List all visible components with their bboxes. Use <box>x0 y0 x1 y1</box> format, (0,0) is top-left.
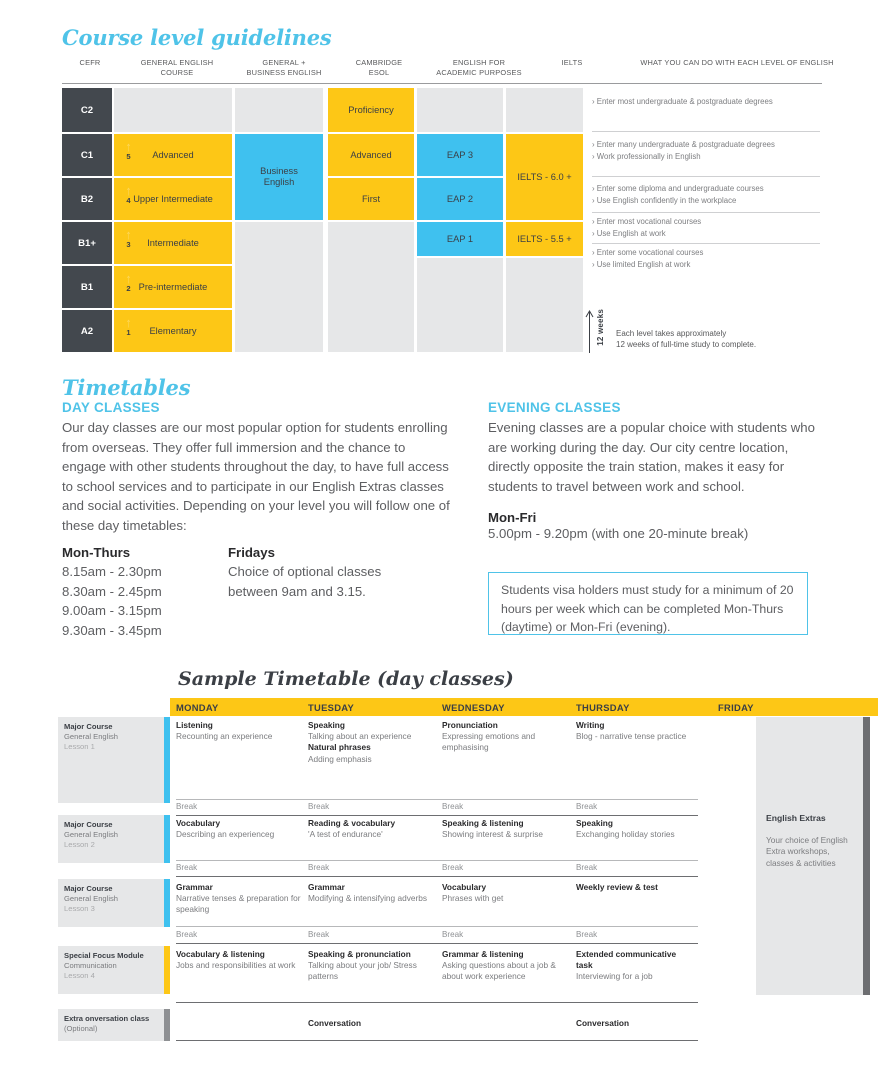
cell-mon-lesson2: Vocabulary Describing an experienceg <box>176 818 300 840</box>
business-english-empty-bottom <box>235 222 323 352</box>
course-label: Upper Intermediate <box>133 194 213 205</box>
row-accent-bar <box>164 815 170 863</box>
break-tue-3: Break <box>308 930 329 939</box>
business-english-block: Business English <box>235 134 323 220</box>
cell-wed-lesson3: Vocabulary Phrases with get <box>442 882 568 904</box>
cell-thu-lesson3: Weekly review & test <box>576 882 706 893</box>
timetables-title: Timetables <box>62 375 190 400</box>
break-thu-3: Break <box>576 930 597 939</box>
outcome-row-b1: › Enter some vocational courses › Use li… <box>592 247 822 270</box>
esol-first: First <box>328 178 414 220</box>
cefr-level-a2: A2 <box>62 310 112 352</box>
cell-wed-lesson1: Pronunciation Expressing emotions and em… <box>442 720 568 754</box>
cell-thu-lesson4: Extended communicative task Interviewing… <box>576 949 688 983</box>
outcome-divider <box>592 131 820 132</box>
cefr-level-c2: C2 <box>62 88 112 132</box>
cell-mon-lesson1: Listening Recounting an experience <box>176 720 300 742</box>
esol-advanced: Advanced <box>328 134 414 176</box>
course-table-header-row: CEFR GENERAL ENGLISH COURSE GENERAL + BU… <box>62 58 822 86</box>
general-english-empty-c2 <box>114 88 232 132</box>
arrow-up-icon: ↑ <box>125 141 132 152</box>
visa-note-box: Students visa holders must study for a m… <box>488 572 808 635</box>
evening-classes-body: Evening classes are a popular choice wit… <box>488 418 822 496</box>
cell-tue-lesson2: Reading & vocabulary 'A test of enduranc… <box>308 818 436 840</box>
english-extras-panel: English Extras Your choice of English Ex… <box>756 717 870 995</box>
day-header-monday: MONDAY <box>176 698 302 716</box>
weeks-note-text: Each level takes approximately 12 weeks … <box>616 328 756 350</box>
row-divider <box>176 926 698 927</box>
course-label: Intermediate <box>147 238 199 249</box>
english-extras-body: Your choice of English Extra workshops, … <box>766 835 858 869</box>
level-arrow-3: ↑ 3 <box>122 229 135 257</box>
eap-empty-top <box>417 88 503 132</box>
cell-tue-conversation: Conversation <box>308 1018 432 1029</box>
break-wed-2: Break <box>442 863 463 872</box>
break-tue-1: Break <box>308 802 329 811</box>
arrow-up-icon: ↑ <box>125 185 132 196</box>
weeks-note: 12 weeks Each level takes approximately … <box>585 305 830 355</box>
row-divider <box>176 943 698 944</box>
business-english-line2: English <box>264 177 295 188</box>
break-thu-1: Break <box>576 802 597 811</box>
row-divider <box>176 860 698 861</box>
cell-wed-lesson2: Speaking & listening Showing interest & … <box>442 818 568 840</box>
row-accent-bar <box>164 946 170 994</box>
sample-timetable-title: Sample Timetable (day classes) <box>178 668 514 690</box>
outcome-divider <box>592 243 820 244</box>
row-label-lesson-2: Major Course General English Lesson 2 <box>58 815 170 863</box>
outcome-row-b1plus: › Enter most vocational courses › Use En… <box>592 216 822 239</box>
mon-fri-times: 5.00pm - 9.20pm (with one 20-minute brea… <box>488 526 748 541</box>
level-arrow-1: ↑ 1 <box>122 317 135 345</box>
break-tue-2: Break <box>308 863 329 872</box>
course-label: Pre-intermediate <box>139 282 208 293</box>
page-title: Course level guidelines <box>62 25 332 50</box>
column-header-outcomes: WHAT YOU CAN DO WITH EACH LEVEL OF ENGLI… <box>592 58 880 68</box>
outcome-row-b2: › Enter some diploma and undergraduate c… <box>592 183 822 206</box>
break-mon-1: Break <box>176 802 197 811</box>
outcome-divider <box>592 176 820 177</box>
fridays-label: Fridays <box>228 545 275 560</box>
eap-2: EAP 2 <box>417 178 503 220</box>
row-label-lesson-1: Major Course General English Lesson 1 <box>58 717 170 803</box>
row-divider <box>176 815 698 816</box>
mon-thurs-times: 8.15am - 2.30pm 8.30am - 2.45pm 9.00am -… <box>62 562 162 640</box>
row-divider <box>176 1040 698 1041</box>
ielts-empty-bottom <box>506 258 583 352</box>
ielts-60: IELTS - 6.0 + <box>506 134 583 220</box>
row-label-extra-conversation: Extra onversation class (Optional) <box>58 1009 170 1041</box>
break-mon-2: Break <box>176 863 197 872</box>
cefr-level-b2: B2 <box>62 178 112 220</box>
day-header-wednesday: WEDNESDAY <box>442 698 568 716</box>
outcome-row-c2: › Enter most undergraduate & postgraduat… <box>592 96 822 108</box>
cell-thu-lesson1: Writing Blog - narrative tense practice <box>576 720 698 742</box>
day-header-friday: FRIDAY <box>718 698 844 716</box>
sample-timetable-day-header: MONDAY TUESDAY WEDNESDAY THURSDAY FRIDAY <box>170 698 878 716</box>
break-mon-3: Break <box>176 930 197 939</box>
cell-thu-conversation: Conversation <box>576 1018 700 1029</box>
level-arrow-5: ↑ 5 <box>122 141 135 169</box>
row-accent-bar <box>164 1009 170 1041</box>
outcome-divider <box>592 212 820 213</box>
course-advanced: ↑ 5 Advanced <box>114 134 232 176</box>
day-classes-body: Our day classes are our most popular opt… <box>62 418 450 536</box>
cell-tue-lesson3: Grammar Modifying & intensifying adverbs <box>308 882 436 904</box>
day-header-thursday: THURSDAY <box>576 698 702 716</box>
english-extras-title: English Extras <box>766 813 826 823</box>
day-header-tuesday: TUESDAY <box>308 698 434 716</box>
ielts-empty-top <box>506 88 583 132</box>
esol-empty-bottom <box>328 222 414 352</box>
eap-3: EAP 3 <box>417 134 503 176</box>
business-english-line1: Business <box>260 166 298 177</box>
ielts-55: IELTS - 5.5 + <box>506 222 583 256</box>
cell-tue-lesson1: Speaking Talking about an experience Nat… <box>308 720 432 765</box>
cell-wed-lesson4: Grammar & listening Asking questions abo… <box>442 949 564 983</box>
row-divider <box>176 799 698 800</box>
cell-mon-lesson3: Grammar Narrative tenses & preparation f… <box>176 882 304 916</box>
mon-thurs-label: Mon-Thurs <box>62 545 130 560</box>
course-pre-intermediate: ↑ 2 Pre-intermediate <box>114 266 232 308</box>
course-upper-intermediate: ↑ 4 Upper Intermediate <box>114 178 232 220</box>
header-divider <box>62 83 822 84</box>
evening-classes-heading: EVENING CLASSES <box>488 400 621 415</box>
column-header-general-english: GENERAL ENGLISH COURSE <box>122 58 232 77</box>
course-label: Advanced <box>152 150 193 161</box>
esol-proficiency: Proficiency <box>328 88 414 132</box>
eap-1: EAP 1 <box>417 222 503 256</box>
course-elementary: ↑ 1 Elementary <box>114 310 232 352</box>
row-label-lesson-3: Major Course General English Lesson 3 <box>58 879 170 927</box>
level-arrow-4: ↑ 4 <box>122 185 135 213</box>
break-thu-2: Break <box>576 863 597 872</box>
arrow-up-icon: ↑ <box>125 273 132 284</box>
row-label-lesson-4: Special Focus Module Communication Lesso… <box>58 946 170 994</box>
row-divider <box>176 1002 698 1003</box>
cell-tue-lesson4: Speaking & pronunciation Talking about y… <box>308 949 426 983</box>
arrow-up-long-icon <box>585 309 594 353</box>
business-english-empty-top <box>235 88 323 132</box>
arrow-up-icon: ↑ <box>125 317 132 328</box>
level-arrow-2: ↑ 2 <box>122 273 135 301</box>
cell-mon-lesson4: Vocabulary & listening Jobs and responsi… <box>176 949 304 971</box>
course-label: Elementary <box>149 326 196 337</box>
arrow-up-icon: ↑ <box>125 229 132 240</box>
cell-thu-lesson2: Speaking Exchanging holiday stories <box>576 818 698 840</box>
row-divider <box>176 876 698 877</box>
eap-empty-bottom <box>417 258 503 352</box>
fridays-text: Choice of optional classes between 9am a… <box>228 562 428 601</box>
cefr-level-c1: C1 <box>62 134 112 176</box>
break-wed-1: Break <box>442 802 463 811</box>
day-classes-heading: DAY CLASSES <box>62 400 160 415</box>
cefr-level-b1: B1 <box>62 266 112 308</box>
break-wed-3: Break <box>442 930 463 939</box>
outcome-row-c1: › Enter many undergraduate & postgraduat… <box>592 139 822 162</box>
row-accent-bar <box>164 717 170 803</box>
scrollbar[interactable] <box>863 717 870 995</box>
weeks-axis-label: 12 weeks <box>596 309 605 346</box>
mon-fri-label: Mon-Fri <box>488 510 536 525</box>
column-header-cambridge-esol: CAMBRIDGE ESOL <box>334 58 424 77</box>
column-header-cefr: CEFR <box>62 58 118 68</box>
sample-timetable: MONDAY TUESDAY WEDNESDAY THURSDAY FRIDAY… <box>58 698 822 1050</box>
column-header-general-business: GENERAL + BUSINESS ENGLISH <box>230 58 338 77</box>
column-header-eap: ENGLISH FOR ACADEMIC PURPOSES <box>414 58 544 77</box>
visa-note-text: Students visa holders must study for a m… <box>501 581 801 637</box>
course-intermediate: ↑ 3 Intermediate <box>114 222 232 264</box>
cefr-level-b1plus: B1+ <box>62 222 112 264</box>
course-level-grid: C2 C1 B2 B1+ B1 A2 ↑ 5 Advanced ↑ 4 Uppe… <box>62 88 583 356</box>
row-accent-bar <box>164 879 170 927</box>
